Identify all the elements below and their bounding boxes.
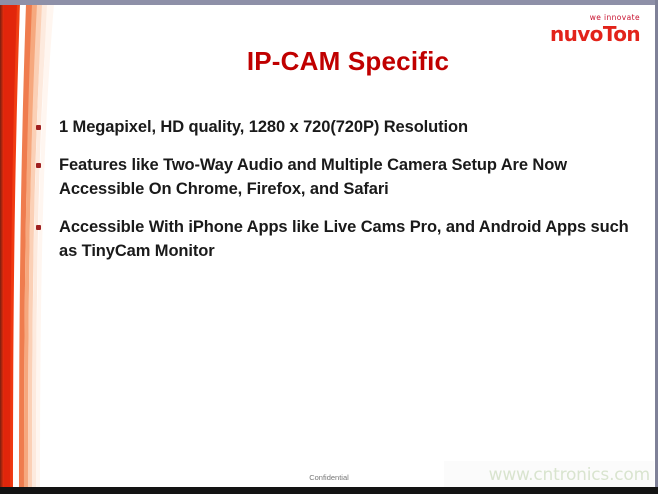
list-item: 1 Megapixel, HD quality, 1280 x 720(720P… xyxy=(36,116,632,140)
logo-wordmark: nuvoTon xyxy=(550,24,640,44)
nuvoton-logo: we innovate nuvoTon xyxy=(550,14,640,44)
list-item: Accessible With iPhone Apps like Live Ca… xyxy=(36,216,632,264)
bullet-marker-icon xyxy=(36,125,41,130)
site-watermark: www.cntronics.com xyxy=(489,465,650,485)
slide-top-border xyxy=(0,0,658,5)
bullet-marker-icon xyxy=(36,163,41,168)
presentation-slide: we innovate nuvoTon IP-CAM Specific 1 Me… xyxy=(0,0,658,494)
slide-title: IP-CAM Specific xyxy=(58,46,638,77)
bullet-text: 1 Megapixel, HD quality, 1280 x 720(720P… xyxy=(59,116,632,140)
bullet-marker-icon xyxy=(36,225,41,230)
list-item: Features like Two-Way Audio and Multiple… xyxy=(36,154,632,202)
logo-tagline: we innovate xyxy=(550,14,640,22)
bullet-list: 1 Megapixel, HD quality, 1280 x 720(720P… xyxy=(36,116,632,278)
slide-bottom-border xyxy=(0,487,658,494)
bullet-text: Accessible With iPhone Apps like Live Ca… xyxy=(59,216,632,264)
bullet-text: Features like Two-Way Audio and Multiple… xyxy=(59,154,632,202)
